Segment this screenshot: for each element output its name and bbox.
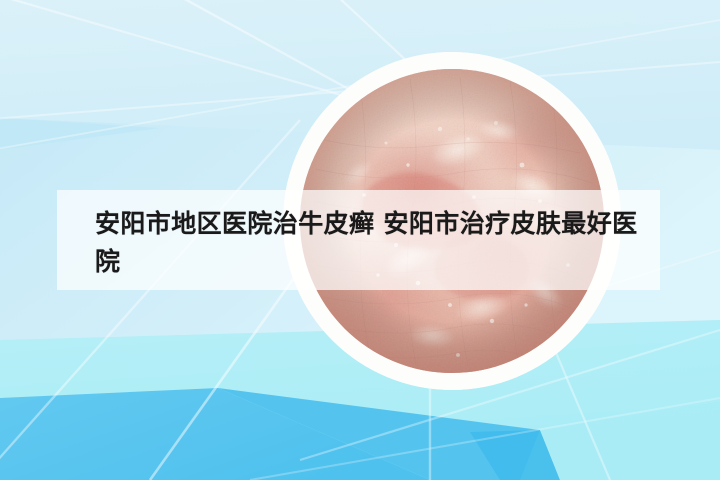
caption-title: 安阳市地区医院治牛皮癣 安阳市治疗皮肤最好医院 [95, 205, 645, 281]
banner-canvas: 安阳市地区医院治牛皮癣 安阳市治疗皮肤最好医院 [0, 0, 720, 480]
